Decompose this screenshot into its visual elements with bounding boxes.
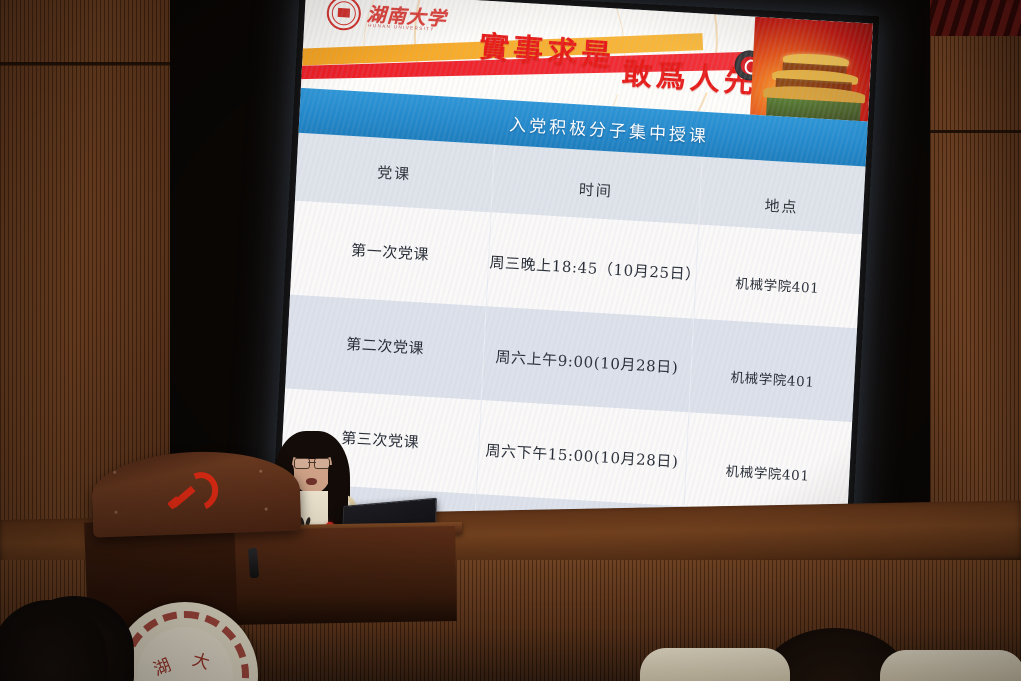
cell-location: 机械学院401 xyxy=(688,319,857,423)
cell-time: 周六上午9:00(10月28日) xyxy=(481,306,694,412)
auditorium-seat xyxy=(640,648,790,681)
schedule-table: 党课 时间 地点 第一次党课 周三晚上18:45（10月25日） 机械学院401… xyxy=(279,133,866,543)
cell-time: 周三晚上18:45（10月25日） xyxy=(486,212,699,318)
motto-left: 實事求是 xyxy=(478,22,616,75)
cell-location: 机械学院401 xyxy=(693,225,862,329)
column-header-time: 时间 xyxy=(491,144,702,224)
yuelu-academy-building-icon xyxy=(750,17,873,122)
projected-slide: 湖南大学 HUNAN UNIVERSITY 實事求是 敢爲人先 入党积极分子集中… xyxy=(279,0,873,543)
cell-location: 机械学院401 xyxy=(683,412,852,516)
cell-time: 周六下午15:00(10月28日) xyxy=(476,400,689,506)
column-header-location: 地点 xyxy=(698,157,865,235)
wall-seam-highlight xyxy=(0,64,170,66)
slide-title: 入党积极分子集中授课 xyxy=(509,110,710,147)
cell-course: 第二次党课 xyxy=(285,295,486,400)
screen-border-right xyxy=(862,0,930,575)
cpc-hammer-and-sickle-icon xyxy=(165,472,210,514)
column-header-course: 党课 xyxy=(295,133,494,213)
wall-seam xyxy=(918,130,1021,133)
lecture-hall-photo: 湖南大学 HUNAN UNIVERSITY 實事求是 敢爲人先 入党积极分子集中… xyxy=(0,0,1021,681)
glasses-icon xyxy=(294,458,330,467)
podium-body xyxy=(225,526,457,625)
hunan-university-seal-icon xyxy=(326,0,362,31)
cell-course: 第一次党课 xyxy=(290,201,491,306)
auditorium-seat xyxy=(880,650,1021,681)
